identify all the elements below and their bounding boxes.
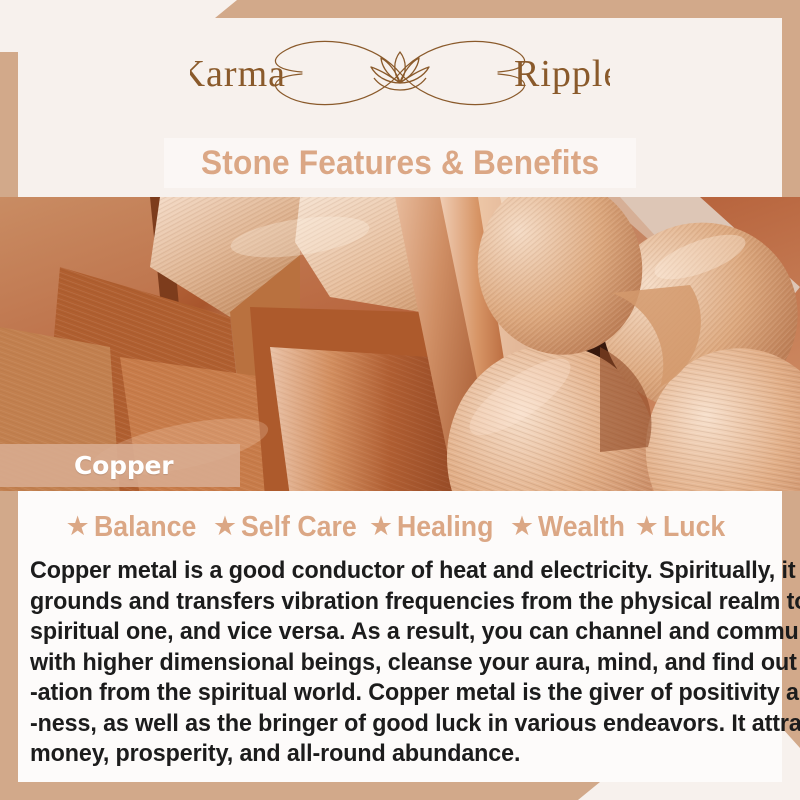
brand-name-left: Karma bbox=[190, 53, 286, 95]
lotus-flower-icon bbox=[371, 52, 429, 90]
body-line: spiritual one, and vice versa. As a resu… bbox=[30, 617, 733, 648]
body-copy: Copper metal is a good conductor of heat… bbox=[30, 556, 770, 770]
star-icon: ★ bbox=[65, 513, 89, 540]
star-icon: ★ bbox=[510, 513, 534, 540]
body-line: -ness, as well as the bringer of good lu… bbox=[30, 709, 733, 740]
stone-features-card: Karma Ripple Stone Features & Benefits bbox=[0, 0, 800, 800]
star-icon: ★ bbox=[213, 513, 237, 540]
hero-caption-band: Copper bbox=[0, 444, 240, 487]
hero-image: Copper bbox=[0, 197, 800, 491]
benefit-item: ★ Wealth bbox=[508, 511, 633, 544]
benefit-label: Luck bbox=[663, 511, 725, 544]
benefit-label: Self Care bbox=[241, 511, 357, 544]
benefits-row: ★ Balance ★ Self Care ★ Healing ★ Wealth… bbox=[0, 506, 800, 548]
body-line: with higher dimensional beings, cleanse … bbox=[30, 648, 733, 679]
benefit-item: ★ Self Care bbox=[211, 511, 367, 544]
benefit-label: Healing bbox=[397, 511, 493, 544]
star-icon: ★ bbox=[369, 513, 393, 540]
brand-logo: Karma Ripple bbox=[0, 18, 800, 128]
star-icon: ★ bbox=[635, 513, 659, 540]
page-title-banner: Stone Features & Benefits bbox=[164, 138, 636, 188]
benefit-label: Balance bbox=[94, 511, 196, 544]
hero-caption: Copper bbox=[0, 451, 173, 480]
benefit-item: ★ Luck bbox=[633, 511, 737, 544]
body-line: money, prosperity, and all-round abundan… bbox=[30, 739, 733, 770]
logo-svg: Karma Ripple bbox=[190, 28, 610, 118]
benefit-label: Wealth bbox=[538, 511, 625, 544]
body-line: -ation from the spiritual world. Copper … bbox=[30, 678, 733, 709]
body-line: Copper metal is a good conductor of heat… bbox=[30, 556, 733, 587]
benefit-item: ★ Balance bbox=[63, 511, 210, 544]
page-title: Stone Features & Benefits bbox=[201, 144, 599, 183]
frame-strip-bottom bbox=[0, 782, 600, 800]
benefit-item: ★ Healing bbox=[367, 511, 508, 544]
frame-strip-top bbox=[215, 0, 800, 18]
body-line: grounds and transfers vibration frequenc… bbox=[30, 587, 733, 618]
brand-name-right: Ripple bbox=[514, 53, 610, 95]
